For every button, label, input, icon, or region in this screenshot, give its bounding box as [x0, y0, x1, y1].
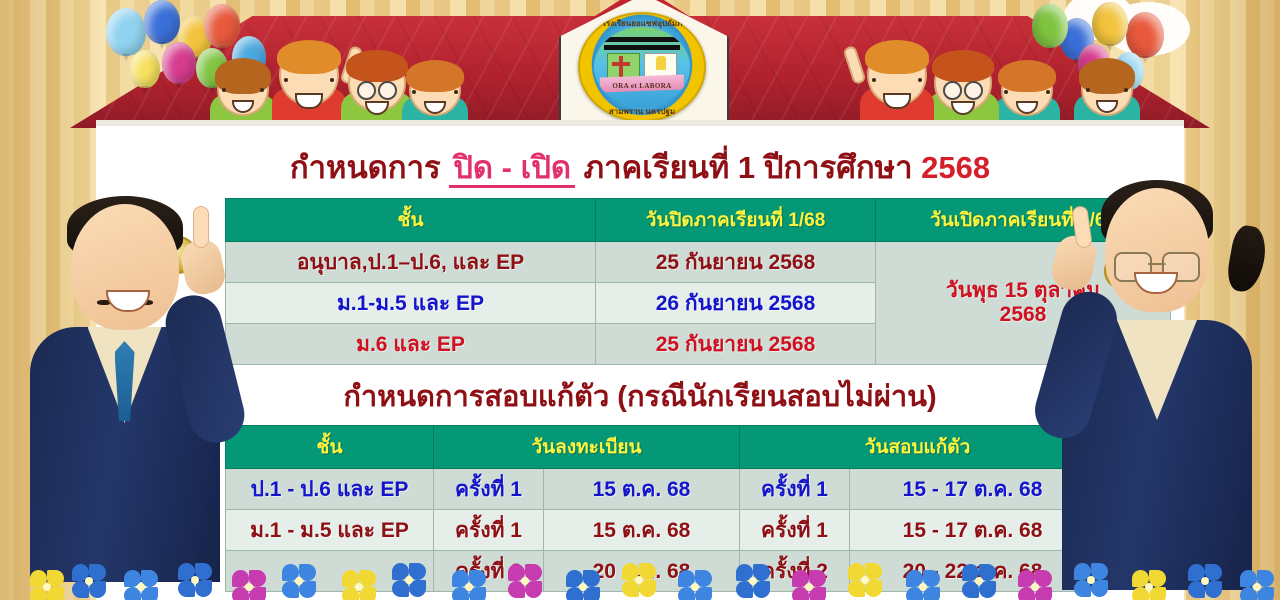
flower-icon	[906, 570, 940, 600]
kids-illustration-right	[850, 26, 1180, 128]
crest-bar	[604, 37, 681, 42]
flower-icon	[566, 570, 600, 600]
cell-close-date: 25 กันยายน 2568	[596, 324, 876, 365]
balloon-icon	[144, 0, 180, 44]
flower-icon	[1018, 570, 1052, 600]
table-header-row: ชั้น วันปิดภาคเรียนที่ 1/68 วันเปิดภาคเร…	[226, 199, 1171, 242]
teacher-photo-right	[1052, 140, 1262, 590]
lamp-icon	[656, 56, 666, 70]
cell-reg-round: ครั้งที่ 1	[434, 510, 544, 551]
flower-icon	[232, 570, 266, 600]
balloon-icon	[130, 50, 160, 88]
table-row: ป.1 - ป.6 และ EP ครั้งที่ 1 15 ต.ค. 68 ค…	[226, 469, 1096, 510]
cell-close-date: 25 กันยายน 2568	[596, 242, 876, 283]
flower-icon	[962, 564, 996, 598]
shirt-collar	[1117, 320, 1197, 420]
th-registration: วันลงทะเบียน	[434, 426, 740, 469]
cross-icon	[619, 56, 623, 78]
flower-icon	[342, 570, 376, 600]
flower-icon	[508, 564, 542, 598]
crest-inner-emblem: ORA et LABORA	[594, 27, 690, 107]
glasses-icon	[943, 81, 983, 96]
table-row: ม.1 - ม.5 และ EP ครั้งที่ 1 15 ต.ค. 68 ค…	[226, 510, 1096, 551]
flower-icon	[1074, 563, 1108, 597]
semester-schedule-table: ชั้น วันปิดภาคเรียนที่ 1/68 วันเปิดภาคเร…	[225, 198, 1171, 365]
cell-exam-round: ครั้งที่ 1	[740, 510, 850, 551]
cell-level: ม.1-ม.5 และ EP	[226, 283, 596, 324]
flower-icon	[124, 570, 158, 600]
cell-level: ม.6 และ EP	[226, 324, 596, 365]
flower-icon	[848, 563, 882, 597]
table-row: อนุบาล,ป.1–ป.6, และ EP 25 กันยายน 2568 ว…	[226, 242, 1171, 283]
flower-icon	[30, 570, 64, 600]
title1-prefix: กำหนดการ	[290, 150, 441, 185]
cell-level: อนุบาล,ป.1–ป.6, และ EP	[226, 242, 596, 283]
pointing-finger	[193, 206, 209, 248]
table-header-row: ชั้น วันลงทะเบียน วันสอบแก้ตัว	[226, 426, 1096, 469]
flower-icon	[736, 564, 770, 598]
flower-border-bottom	[0, 558, 1280, 600]
flower-icon	[1188, 564, 1222, 598]
cell-reg-date: 15 ต.ค. 68	[544, 510, 740, 551]
hand	[1048, 232, 1100, 294]
kid-figure	[398, 64, 472, 128]
title1-highlight: ปิด - เปิด	[449, 150, 575, 188]
crest-bar	[604, 45, 681, 50]
school-logo: โรงเรียนยอแซฟอุปถัมภ์ ORA et LABORA สามพ…	[578, 12, 706, 122]
flower-icon	[178, 563, 212, 597]
th-level: ชั้น	[226, 199, 596, 242]
cell-close-date: 26 กันยายน 2568	[596, 283, 876, 324]
crest-motto: ORA et LABORA	[594, 82, 690, 90]
poster-canvas: โรงเรียนยอแซฟอุปถัมภ์ ORA et LABORA สามพ…	[0, 0, 1280, 600]
balloon-icon	[162, 42, 196, 84]
flower-icon	[282, 564, 316, 598]
cell-reg-round: ครั้งที่ 1	[434, 469, 544, 510]
balloon-icon	[204, 4, 240, 48]
title1-suffix: ภาคเรียนที่ 1 ปีการศึกษา	[584, 150, 913, 185]
kid-figure	[854, 44, 940, 128]
teacher-photo-left	[22, 162, 227, 582]
balloon-icon	[1092, 2, 1128, 46]
flower-icon	[622, 563, 656, 597]
title1-year: 2568	[921, 150, 990, 185]
cell-exam-round: ครั้งที่ 1	[740, 469, 850, 510]
necktie	[115, 341, 135, 421]
balloon-icon	[1126, 12, 1164, 58]
cell-reg-date: 15 ต.ค. 68	[544, 469, 740, 510]
cell-level: ป.1 - ป.6 และ EP	[226, 469, 434, 510]
flower-icon	[1132, 570, 1166, 600]
flower-icon	[678, 570, 712, 600]
th-close-date: วันปิดภาคเรียนที่ 1/68	[596, 199, 876, 242]
balloon-icon	[106, 8, 146, 56]
crest-location-thai: สามพราน นครปฐม	[578, 105, 706, 118]
flower-icon	[792, 570, 826, 600]
th-level: ชั้น	[226, 426, 434, 469]
balloon-icon	[1032, 4, 1068, 48]
cell-level: ม.1 - ม.5 และ EP	[226, 510, 434, 551]
kids-illustration-left	[100, 26, 430, 128]
flower-icon	[452, 570, 486, 600]
flower-icon	[72, 564, 106, 598]
flower-icon	[392, 563, 426, 597]
flower-icon	[1240, 570, 1274, 600]
kid-figure	[1070, 62, 1144, 128]
glasses-icon	[357, 81, 397, 96]
th-exam: วันสอบแก้ตัว	[740, 426, 1096, 469]
top-banner: โรงเรียนยอแซฟอุปถัมภ์ ORA et LABORA สามพ…	[0, 0, 1280, 128]
